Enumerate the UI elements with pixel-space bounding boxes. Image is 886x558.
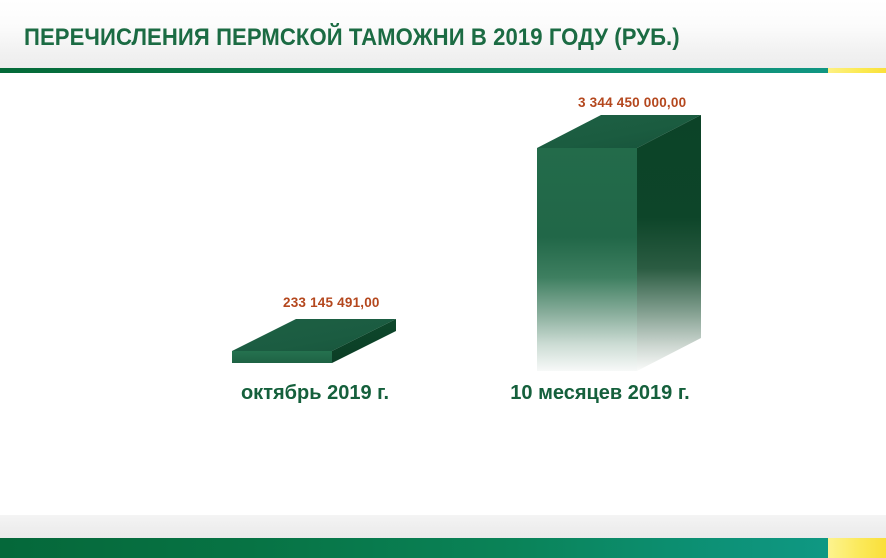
footer-divider-green-segment bbox=[0, 538, 828, 558]
bar-october bbox=[232, 319, 396, 363]
category-label-october: октябрь 2019 г. bbox=[170, 382, 460, 405]
category-label-ten-months: 10 месяцев 2019 г. bbox=[455, 382, 745, 405]
page-title: ПЕРЕЧИСЛЕНИЯ ПЕРМСКОЙ ТАМОЖНИ В 2019 ГОД… bbox=[24, 24, 680, 52]
slide-canvas: ПЕРЕЧИСЛЕНИЯ ПЕРМСКОЙ ТАМОЖНИ В 2019 ГОД… bbox=[0, 0, 886, 558]
value-label-ten-months: 3 344 450 000,00 bbox=[578, 95, 686, 110]
bar-ten-months-front-face bbox=[537, 148, 637, 371]
chart-area: 233 145 491,00 3 344 450 000,00 октябрь … bbox=[0, 73, 886, 493]
bar-ten-months-side-face bbox=[637, 115, 701, 371]
footer-divider-yellow-segment bbox=[828, 538, 886, 558]
value-label-october: 233 145 491,00 bbox=[283, 295, 380, 310]
footer-whitespace bbox=[0, 493, 886, 515]
bar-chart-graphic bbox=[0, 73, 886, 493]
footer-divider bbox=[0, 538, 886, 558]
slide-header: ПЕРЕЧИСЛЕНИЯ ПЕРМСКОЙ ТАМОЖНИ В 2019 ГОД… bbox=[0, 0, 886, 68]
footer-band bbox=[0, 515, 886, 538]
bar-ten-months bbox=[537, 115, 701, 371]
bar-october-front-face bbox=[232, 351, 332, 363]
